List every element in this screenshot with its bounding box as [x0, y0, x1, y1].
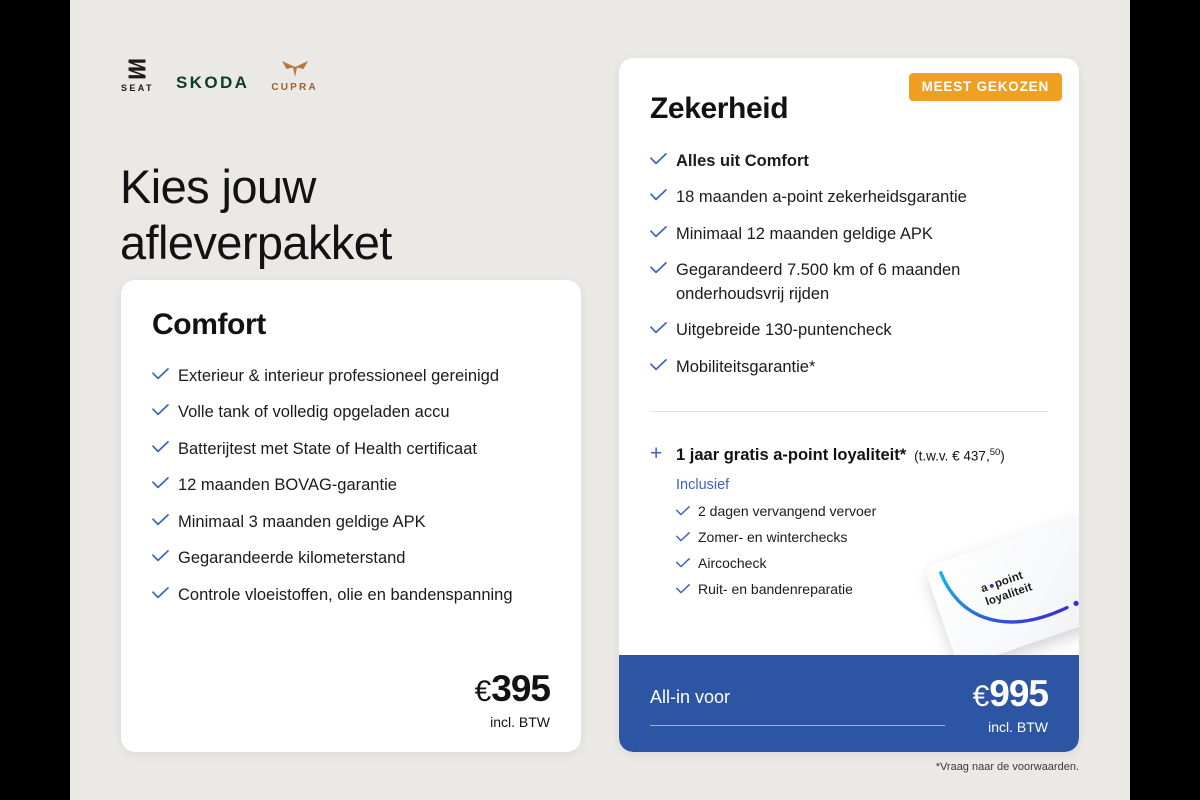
page-title: Kies jouw afleverpakket: [120, 159, 540, 270]
comfort-price-note: incl. BTW: [475, 714, 550, 730]
bonus-value-prefix: (t.w.v. € 437,: [914, 448, 990, 463]
zekerheid-title: Zekerheid: [650, 92, 788, 126]
comfort-feature-list: Exterieur & interieur professioneel gere…: [152, 365, 552, 620]
screenshot-stage: SEAT SKODA CUPRA Kies jouw afleverpakket…: [0, 0, 1200, 800]
list-item-label: Zomer- en winterchecks: [698, 528, 847, 547]
seat-logo: SEAT: [121, 55, 154, 93]
package-card-zekerheid[interactable]: MEEST GEKOZEN Zekerheid Alles uit Comfor…: [619, 58, 1079, 752]
check-icon: [676, 581, 698, 599]
list-item-label: Ruit- en bandenreparatie: [698, 580, 853, 599]
loyalty-dot-icon: [989, 583, 994, 588]
list-item: Gegarandeerde kilometerstand: [152, 547, 552, 570]
list-item-label: Batterijtest met State of Health certifi…: [178, 438, 477, 461]
cupra-logo: CUPRA: [271, 59, 318, 93]
list-item-label: Gegarandeerde kilometerstand: [178, 547, 405, 570]
list-item: 2 dagen vervangend vervoer: [676, 502, 1006, 521]
comfort-title: Comfort: [152, 308, 266, 342]
list-item-label: Minimaal 3 maanden geldige APK: [178, 511, 426, 534]
zekerheid-price-block: €995 incl. BTW: [973, 675, 1048, 735]
list-item: Mobiliteitsgarantie*: [650, 356, 1050, 379]
skoda-logo: SKODA: [176, 73, 249, 93]
list-item: Zomer- en winterchecks: [676, 528, 1006, 547]
list-item: Batterijtest met State of Health certifi…: [152, 438, 552, 461]
plus-icon: +: [650, 443, 676, 464]
check-icon: [676, 555, 698, 573]
list-item: Alles uit Comfort: [650, 150, 1050, 173]
zekerheid-feature-list: Alles uit Comfort 18 maanden a-point zek…: [650, 150, 1050, 392]
list-item-label: Aircocheck: [698, 554, 766, 573]
inclusief-label: Inclusief: [676, 477, 729, 493]
currency-symbol: €: [475, 675, 491, 708]
brand-logo-row: SEAT SKODA CUPRA: [121, 55, 318, 93]
cupra-mark-icon: [280, 59, 310, 79]
check-icon: [650, 358, 676, 376]
section-divider: [650, 411, 1048, 412]
list-item: Controle vloeistoffen, olie en bandenspa…: [152, 584, 552, 607]
list-item: Exterieur & interieur professioneel gere…: [152, 365, 552, 388]
list-item-label: Gegarandeerd 7.500 km of 6 maanden onder…: [676, 259, 1050, 306]
list-item-label: Uitgebreide 130-puntencheck: [676, 319, 892, 342]
page-canvas: SEAT SKODA CUPRA Kies jouw afleverpakket…: [70, 0, 1130, 800]
bonus-value-cents: 50: [990, 447, 1001, 458]
price-amount: 995: [989, 673, 1048, 714]
check-icon: [152, 549, 178, 567]
check-icon: [650, 261, 676, 279]
list-item-label: 12 maanden BOVAG-garantie: [178, 474, 397, 497]
zekerheid-price-note: incl. BTW: [973, 719, 1048, 735]
check-icon: [152, 476, 178, 494]
list-item-label: Exterieur & interieur professioneel gere…: [178, 365, 499, 388]
seat-wordmark: SEAT: [121, 83, 154, 93]
currency-symbol: €: [973, 680, 989, 713]
check-icon: [152, 403, 178, 421]
check-icon: [152, 367, 178, 385]
status-badge: MEEST GEKOZEN: [909, 73, 1062, 101]
list-item: 18 maanden a-point zekerheidsgarantie: [650, 186, 1050, 209]
list-item: Uitgebreide 130-puntencheck: [650, 319, 1050, 342]
list-item: Minimaal 3 maanden geldige APK: [152, 511, 552, 534]
list-item-label: Alles uit Comfort: [676, 150, 809, 173]
comfort-price-block: €395 incl. BTW: [475, 670, 550, 730]
list-item-label: 2 dagen vervangend vervoer: [698, 502, 876, 521]
skoda-wordmark: SKODA: [176, 73, 249, 93]
comfort-price: €395: [475, 670, 550, 707]
check-icon: [152, 440, 178, 458]
check-icon: [650, 188, 676, 206]
price-amount: 395: [491, 668, 550, 709]
bonus-label: 1 jaar gratis a-point loyaliteit*: [676, 446, 906, 465]
package-card-comfort[interactable]: Comfort Exterieur & interieur profession…: [121, 280, 581, 752]
bonus-value-suffix: ): [1000, 448, 1005, 463]
list-item-label: Minimaal 12 maanden geldige APK: [676, 223, 933, 246]
list-item: Minimaal 12 maanden geldige APK: [650, 223, 1050, 246]
list-item: Volle tank of volledig opgeladen accu: [152, 401, 552, 424]
list-item: Gegarandeerd 7.500 km of 6 maanden onder…: [650, 259, 1050, 306]
cupra-wordmark: CUPRA: [271, 82, 318, 93]
list-item-label: 18 maanden a-point zekerheidsgarantie: [676, 186, 967, 209]
bonus-row: + 1 jaar gratis a-point loyaliteit* (t.w…: [650, 443, 1060, 465]
list-item-label: Mobiliteitsgarantie*: [676, 356, 815, 379]
zekerheid-price: €995: [973, 675, 1048, 712]
seat-mark-icon: [124, 55, 150, 81]
check-icon: [152, 586, 178, 604]
footer-rule: [650, 725, 945, 726]
footnote: *Vraag naar de voorwaarden.: [936, 761, 1079, 773]
bonus-value: (t.w.v. € 437,50): [914, 447, 1005, 464]
check-icon: [650, 225, 676, 243]
check-icon: [676, 503, 698, 521]
list-item-label: Controle vloeistoffen, olie en bandenspa…: [178, 584, 513, 607]
check-icon: [676, 529, 698, 547]
allin-label: All-in voor: [650, 687, 730, 708]
zekerheid-price-footer: All-in voor €995 incl. BTW: [619, 655, 1079, 752]
check-icon: [650, 152, 676, 170]
check-icon: [152, 513, 178, 531]
list-item-label: Volle tank of volledig opgeladen accu: [178, 401, 450, 424]
check-icon: [650, 321, 676, 339]
list-item: 12 maanden BOVAG-garantie: [152, 474, 552, 497]
